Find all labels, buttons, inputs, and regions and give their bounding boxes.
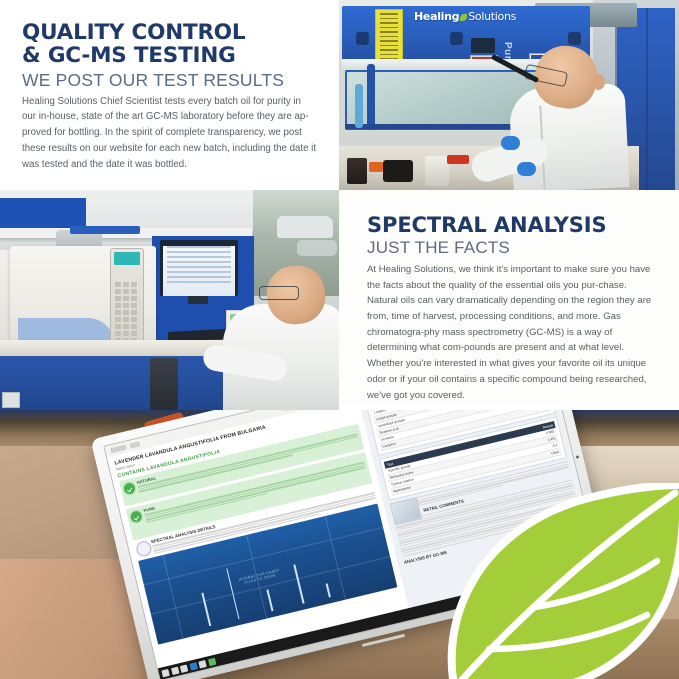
scientist-figure bbox=[509, 38, 627, 190]
tablet-camera-icon bbox=[576, 455, 580, 459]
check-circle-icon bbox=[130, 510, 143, 523]
safety-glasses-icon bbox=[259, 286, 299, 300]
quality-control-headline: QUALITY CONTROL & GC-MS TESTING bbox=[22, 22, 317, 68]
tablet-report-photo: LAVENDER LAVANDULA ANGUSTIFOLIA FROM BUL… bbox=[0, 410, 679, 679]
hood-display-panel bbox=[471, 38, 495, 53]
blue-glove-right bbox=[517, 162, 536, 176]
spectral-analysis-subhead: JUST THE FACTS bbox=[367, 238, 657, 258]
instrument-lcd bbox=[114, 252, 140, 265]
gcms-instrument-photo bbox=[0, 190, 339, 410]
hood-brand-healing: Healing bbox=[414, 10, 459, 23]
spectral-analysis-body: At Healing Solutions, we think it's impo… bbox=[367, 262, 657, 403]
infographic-page: QUALITY CONTROL & GC-MS TESTING WE POST … bbox=[0, 0, 679, 679]
leaf-icon bbox=[460, 14, 467, 21]
hood-knob-mid bbox=[450, 32, 463, 45]
photo-scene bbox=[0, 190, 339, 410]
fume-hood-lab-photo: HealingSolutions PureAir bbox=[339, 0, 679, 190]
start-icon[interactable] bbox=[161, 668, 169, 676]
report-left-column: LAVENDER LAVANDULA ANGUSTIFOLIA FROM BUL… bbox=[107, 410, 412, 679]
reagent-jar bbox=[425, 156, 449, 186]
blue-glove-left bbox=[501, 136, 520, 150]
browser-icon[interactable] bbox=[189, 662, 197, 670]
spectral-analysis-headline: SPECTRAL ANALYSIS bbox=[367, 214, 657, 236]
cell-value: Clear bbox=[551, 450, 560, 456]
leaf-logo bbox=[443, 483, 679, 679]
scientist-ear bbox=[592, 74, 605, 90]
search-icon[interactable] bbox=[170, 666, 178, 674]
cell-value: 1.461 bbox=[547, 436, 556, 442]
desktop-tower bbox=[150, 358, 178, 410]
quality-control-subhead: WE POST OUR TEST RESULTS bbox=[22, 70, 317, 90]
cell-value: 0.885 bbox=[546, 429, 555, 435]
scientist-figure bbox=[223, 250, 339, 410]
blue-clamp bbox=[355, 84, 363, 128]
parked-car-1 bbox=[277, 216, 333, 238]
instrument-keypad bbox=[110, 248, 144, 348]
photo-scene: HealingSolutions PureAir bbox=[339, 0, 679, 190]
hood-knob-left bbox=[356, 32, 369, 45]
check-circle-icon bbox=[123, 482, 136, 495]
hood-brand-logo: HealingSolutions bbox=[414, 10, 516, 23]
autosampler-tray bbox=[70, 226, 140, 234]
mail-icon[interactable] bbox=[198, 660, 206, 668]
monitor-stand bbox=[188, 296, 208, 304]
wall-outlet bbox=[2, 392, 20, 408]
folder-icon[interactable] bbox=[180, 664, 188, 672]
jar-red-cap bbox=[447, 155, 469, 164]
amber-bottle-1 bbox=[347, 158, 367, 184]
hood-sash-frame bbox=[367, 64, 375, 130]
quality-control-text-panel: QUALITY CONTROL & GC-MS TESTING WE POST … bbox=[0, 0, 339, 190]
bottle-cap-orange bbox=[369, 162, 383, 172]
hood-brand-solutions: Solutions bbox=[468, 10, 516, 23]
cell-value: -9.1 bbox=[551, 443, 558, 448]
photo-scene: LAVENDER LAVANDULA ANGUSTIFOLIA FROM BUL… bbox=[0, 410, 679, 679]
dark-apparatus bbox=[383, 160, 413, 182]
store-icon[interactable] bbox=[207, 657, 215, 665]
spectral-analysis-text-panel: SPECTRAL ANALYSIS JUST THE FACTS At Heal… bbox=[339, 190, 679, 405]
quality-control-body: Healing Solutions Chief Scientist tests … bbox=[22, 94, 317, 173]
keypad-buttons[interactable] bbox=[114, 281, 140, 343]
cell-name: Camphor bbox=[382, 442, 397, 449]
